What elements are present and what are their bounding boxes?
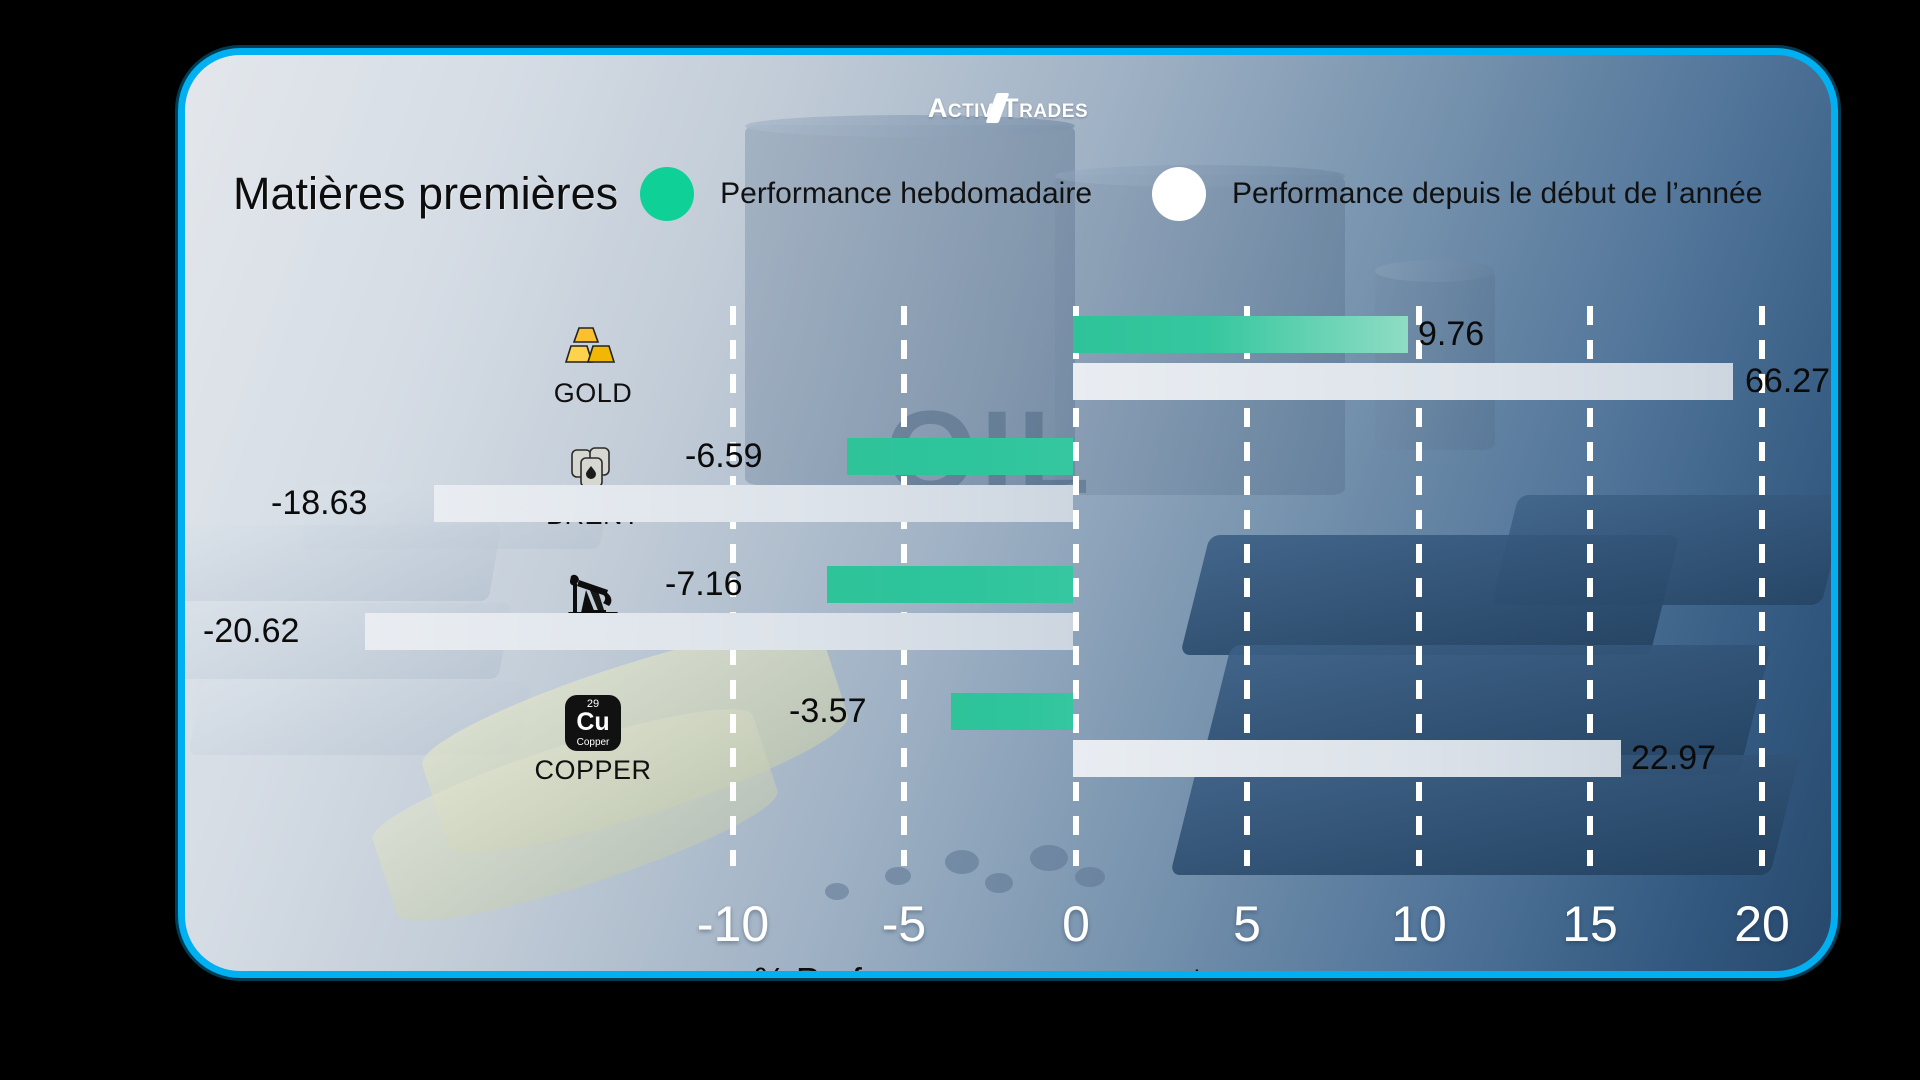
value-ytd-brent: -18.63 (271, 485, 367, 522)
bar-ytd-copper (1073, 740, 1621, 777)
bar-weekly-oil (827, 566, 1073, 603)
value-weekly-gold: 9.76 (1418, 316, 1484, 353)
value-weekly-oil: -7.16 (665, 566, 743, 603)
header-row: Matières premières Performance hebdomada… (233, 163, 1791, 225)
value-ytd-oil: -20.62 (203, 613, 299, 650)
pebble-graphic (985, 873, 1013, 893)
x-tick-20: 20 (1734, 895, 1790, 953)
legend-dot-weekly-icon (640, 167, 694, 221)
value-weekly-brent: -6.59 (685, 438, 763, 475)
bar-ytd-oil (365, 613, 1073, 650)
copper-symbol: Cu (565, 708, 621, 737)
bar-weekly-brent (847, 438, 1073, 475)
category-name-gold: GOLD (498, 378, 688, 409)
copper-element-icon: 29 Cu Copper (498, 695, 688, 751)
screenshot-stage: OIL ActivTrades Matières premières (0, 0, 1920, 1080)
brand-name-part2: Trades (1002, 93, 1088, 123)
brand-name-part1: Activ (928, 93, 993, 123)
page-title: Matières premières (233, 168, 618, 220)
legend-item-weekly: Performance hebdomadaire (640, 167, 1092, 221)
legend-item-ytd: Performance depuis le début de l’année (1152, 167, 1762, 221)
chart-plot-area: GOLD 9.76 66.27 (233, 270, 1793, 875)
x-tick--10: -10 (697, 895, 769, 953)
category-label-gold: GOLD (498, 318, 688, 409)
x-tick-0: 0 (1062, 895, 1090, 953)
x-tick--5: -5 (882, 895, 926, 953)
value-ytd-copper: 22.97 (1631, 740, 1716, 777)
oil-barrels-glyph (564, 446, 622, 490)
x-axis: -10 -5 0 5 10 15 20 (233, 895, 1793, 965)
bar-ytd-brent (434, 485, 1073, 522)
bar-weekly-copper (951, 693, 1073, 730)
copper-element-name: Copper (565, 737, 621, 748)
value-ytd-gold: 66.27 (1745, 363, 1830, 400)
copper-periodic-tile: 29 Cu Copper (565, 695, 621, 751)
value-weekly-copper: -3.57 (789, 693, 867, 730)
category-name-copper: COPPER (498, 755, 688, 786)
x-tick-15: 15 (1562, 895, 1618, 953)
brand-logo: ActivTrades (185, 93, 1831, 124)
category-label-copper: 29 Cu Copper COPPER (498, 695, 688, 786)
bar-weekly-gold (1073, 316, 1408, 353)
legend-label-ytd: Performance depuis le début de l’année (1232, 177, 1762, 211)
legend-dot-ytd-icon (1152, 167, 1206, 221)
bar-ytd-gold (1073, 363, 1733, 400)
x-tick-5: 5 (1233, 895, 1261, 953)
gold-bars-icon (498, 318, 688, 374)
infographic-card: OIL ActivTrades Matières premières (178, 48, 1838, 978)
x-tick-10: 10 (1391, 895, 1447, 953)
gold-bars-glyph (564, 326, 622, 366)
x-axis-title: % Performance en pourcentage (185, 960, 1831, 978)
legend-label-weekly: Performance hebdomadaire (720, 177, 1092, 211)
